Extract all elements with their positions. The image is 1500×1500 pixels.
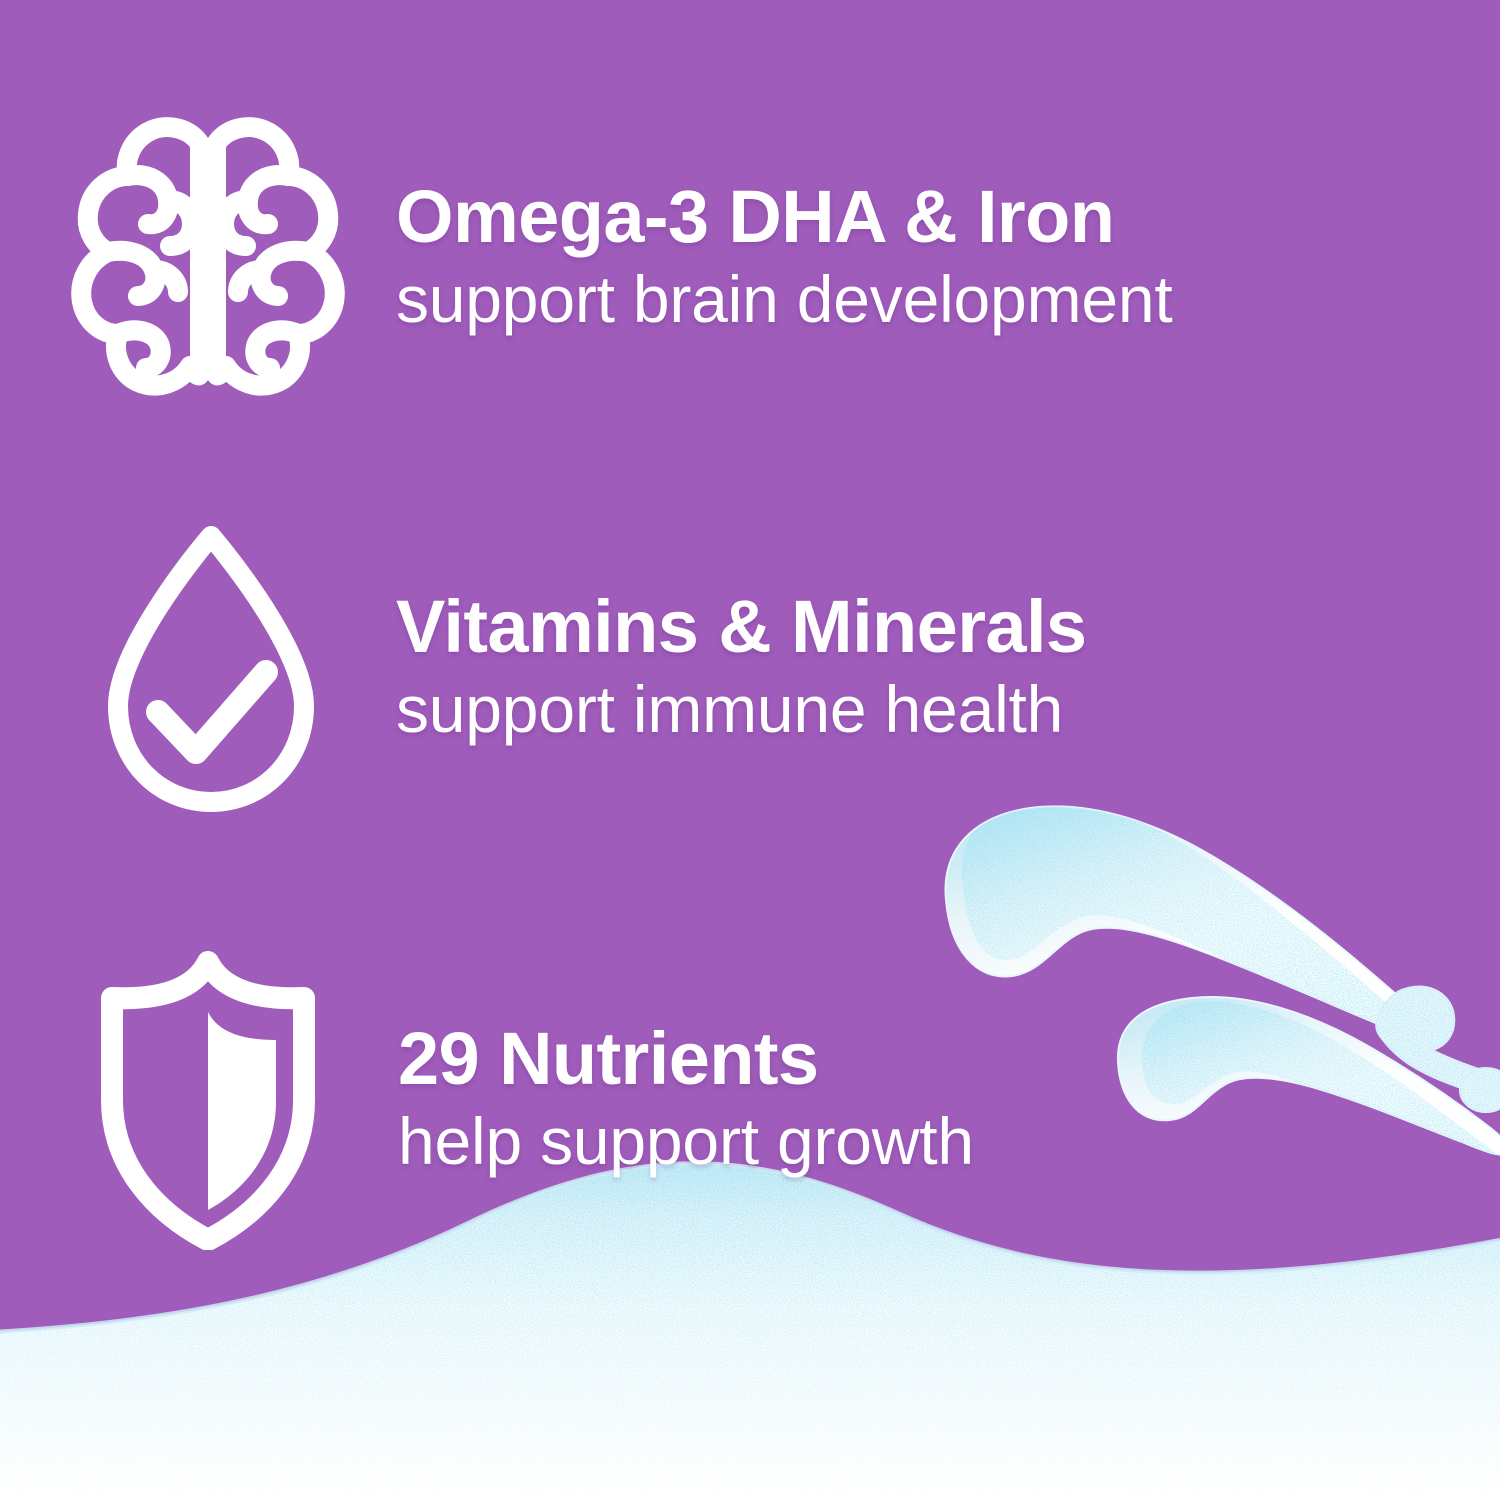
feature-text-block: 29 Nutrients help support growth [398,1021,974,1178]
shield-icon [90,950,326,1250]
milk-droplet-tail-icon [1376,987,1500,1100]
droplet-check-icon [98,520,324,816]
feature-item-omega3: Omega-3 DHA & Iron support brain develop… [62,110,1173,406]
brain-icon [62,110,354,406]
feature-subtitle: support immune health [396,673,1086,747]
milk-splash-large-icon [946,806,1431,1038]
milk-splash-small-icon [1118,997,1500,1155]
feature-text-block: Omega-3 DHA & Iron support brain develop… [396,179,1173,336]
feature-item-vitamins: Vitamins & Minerals support immune healt… [90,520,1086,816]
feature-text-block: Vitamins & Minerals support immune healt… [396,589,1086,746]
product-benefits-infographic: Omega-3 DHA & Iron support brain develop… [0,0,1500,1500]
milk-droplet-dot-icon [1460,1068,1500,1112]
feature-subtitle: support brain development [396,263,1173,337]
feature-item-nutrients: 29 Nutrients help support growth [86,950,974,1250]
feature-title: Vitamins & Minerals [396,589,1086,664]
feature-title: Omega-3 DHA & Iron [396,179,1173,254]
feature-subtitle: help support growth [398,1105,974,1179]
feature-title: 29 Nutrients [398,1021,974,1096]
